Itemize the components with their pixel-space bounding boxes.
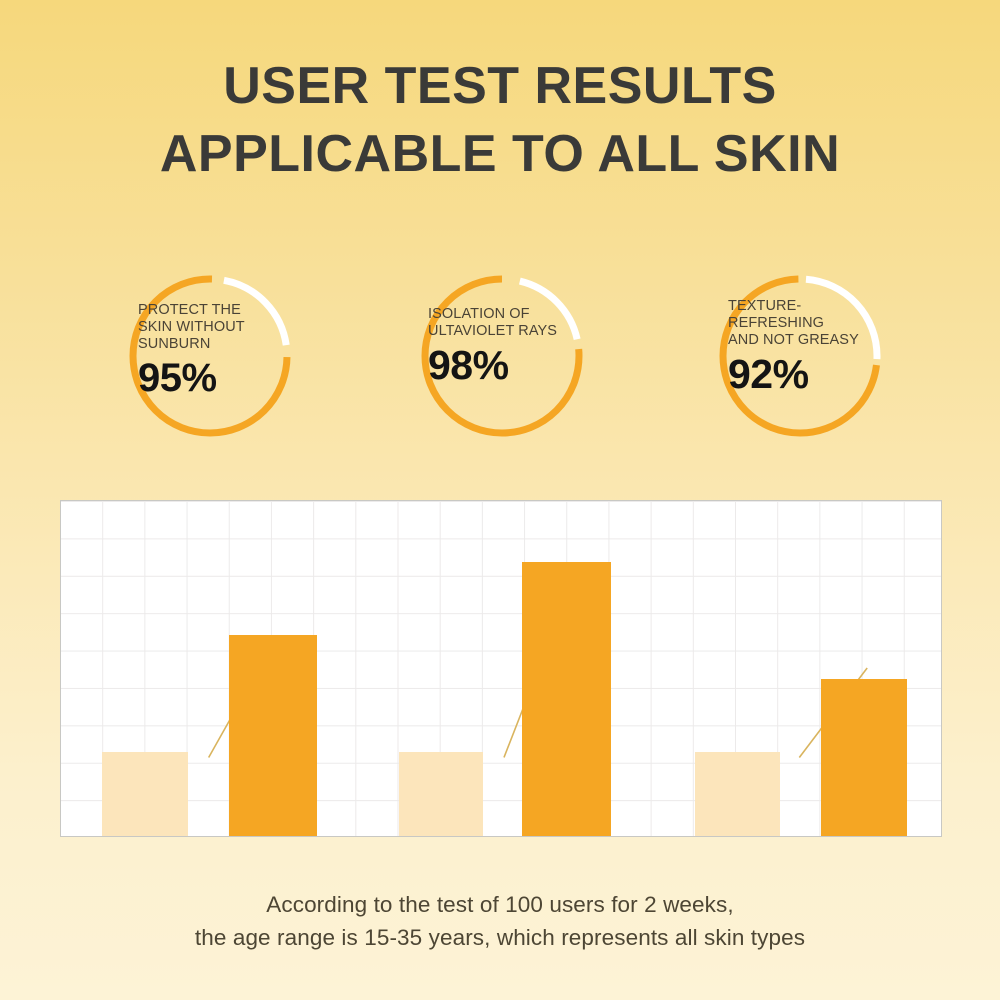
stat-ring-isolation-uv: ISOLATION OF ULTAVIOLET RAYS 98% bbox=[416, 270, 588, 442]
stat-ring-protect-skin: PROTECT THE SKIN WITHOUT SUNBURN 95% bbox=[124, 270, 296, 442]
page-title-line-1: USER TEST RESULTS bbox=[0, 52, 1000, 120]
stat-value: 92% bbox=[728, 352, 880, 396]
stat-ring-group: PROTECT THE SKIN WITHOUT SUNBURN 95% ISO… bbox=[0, 270, 1000, 450]
bar-after-group-3 bbox=[821, 679, 907, 836]
bar-before-group-1 bbox=[102, 752, 188, 836]
bar-after-group-2 bbox=[522, 562, 611, 836]
chart-caption: According to the test of 100 users for 2… bbox=[0, 888, 1000, 954]
chart-caption-line-2: the age range is 15-35 years, which repr… bbox=[0, 921, 1000, 954]
stat-value: 95% bbox=[138, 356, 288, 400]
page-title: USER TEST RESULTS APPLICABLE TO ALL SKIN bbox=[0, 52, 1000, 188]
bar-after-group-1 bbox=[229, 635, 317, 836]
bar-before-group-2 bbox=[399, 752, 483, 836]
bar-before-group-3 bbox=[695, 752, 780, 836]
stat-label: ISOLATION OF ULTAVIOLET RAYS bbox=[428, 306, 584, 340]
bar-chart bbox=[60, 500, 942, 837]
stat-label: TEXTURE- REFRESHING AND NOT GREASY bbox=[728, 298, 880, 349]
chart-plot-area bbox=[61, 501, 941, 836]
stat-value: 98% bbox=[428, 343, 584, 387]
page-title-line-2: APPLICABLE TO ALL SKIN bbox=[0, 120, 1000, 188]
chart-caption-line-1: According to the test of 100 users for 2… bbox=[0, 888, 1000, 921]
stat-ring-texture-refreshing: TEXTURE- REFRESHING AND NOT GREASY 92% bbox=[714, 270, 886, 442]
stat-label: PROTECT THE SKIN WITHOUT SUNBURN bbox=[138, 302, 288, 353]
